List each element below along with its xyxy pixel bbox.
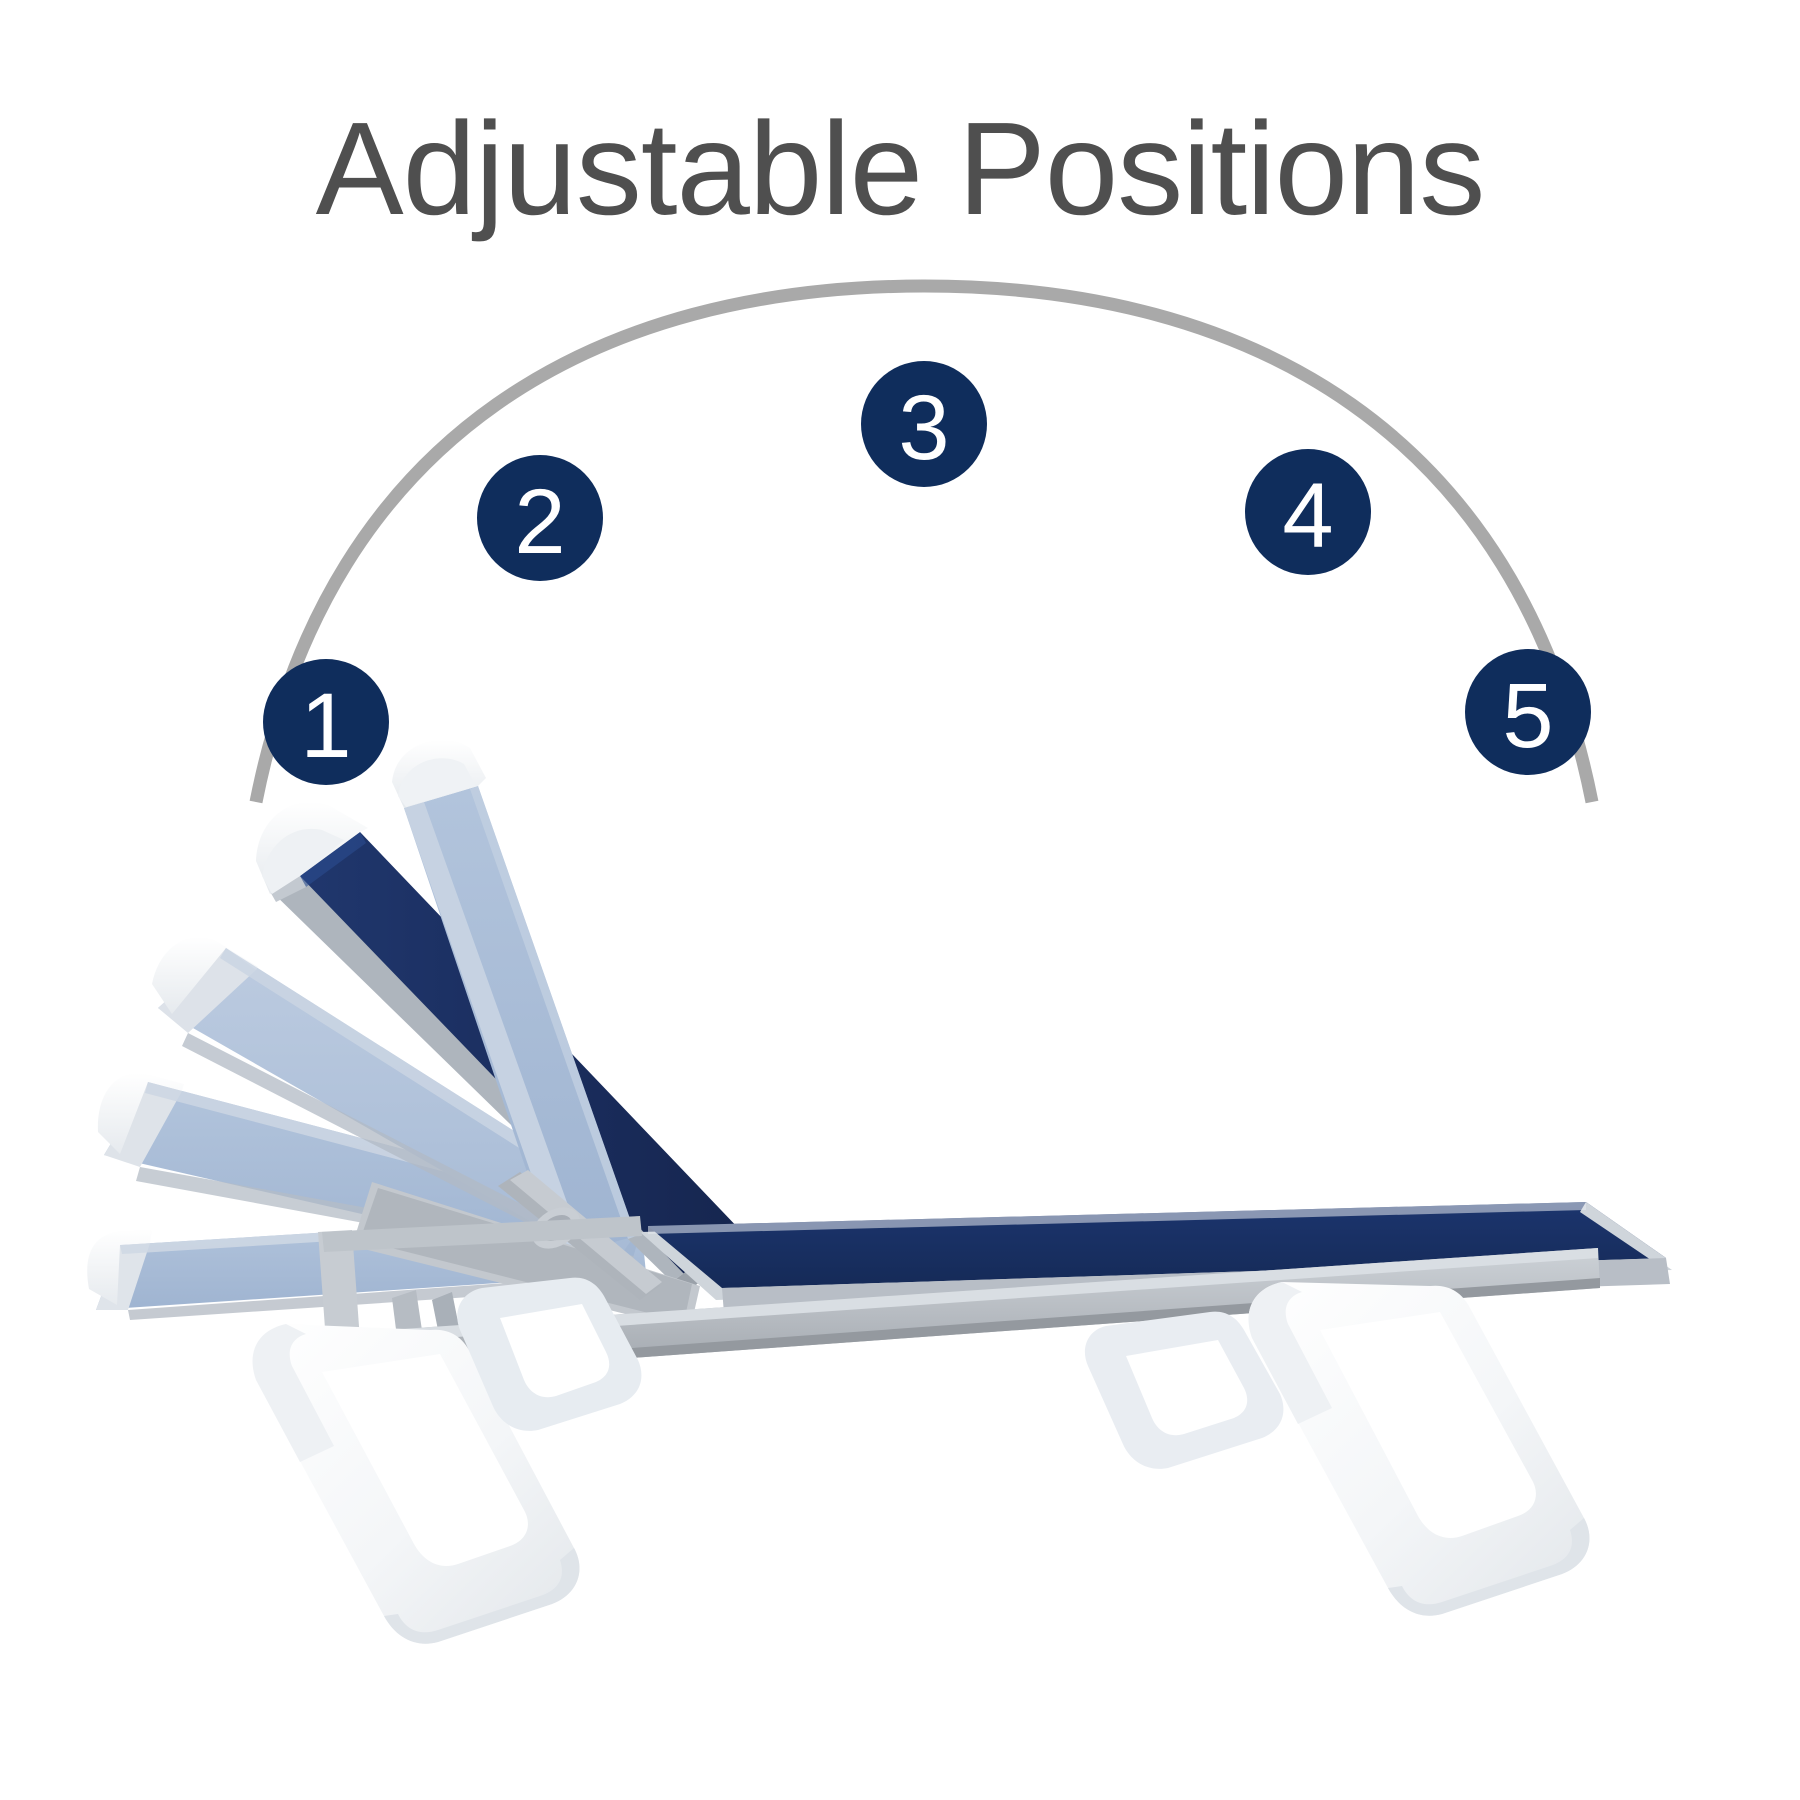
position-badge-2[interactable]: 2 bbox=[477, 455, 603, 581]
position-badge-3[interactable]: 3 bbox=[861, 361, 987, 487]
position-badge-1[interactable]: 1 bbox=[263, 659, 389, 785]
badge-label-4: 4 bbox=[1282, 465, 1333, 567]
product-illustration: 1 2 3 4 5 bbox=[0, 0, 1800, 1800]
badge-label-2: 2 bbox=[514, 471, 565, 573]
badge-label-1: 1 bbox=[300, 675, 351, 777]
leg-front-right bbox=[1249, 1282, 1590, 1616]
infographic-canvas: Adjustable Positions bbox=[0, 0, 1800, 1800]
badge-label-5: 5 bbox=[1502, 665, 1553, 767]
chaise-lounge bbox=[87, 740, 1672, 1644]
position-badge-5[interactable]: 5 bbox=[1465, 649, 1591, 775]
position-badge-4[interactable]: 4 bbox=[1245, 449, 1371, 575]
badge-label-3: 3 bbox=[898, 377, 949, 479]
